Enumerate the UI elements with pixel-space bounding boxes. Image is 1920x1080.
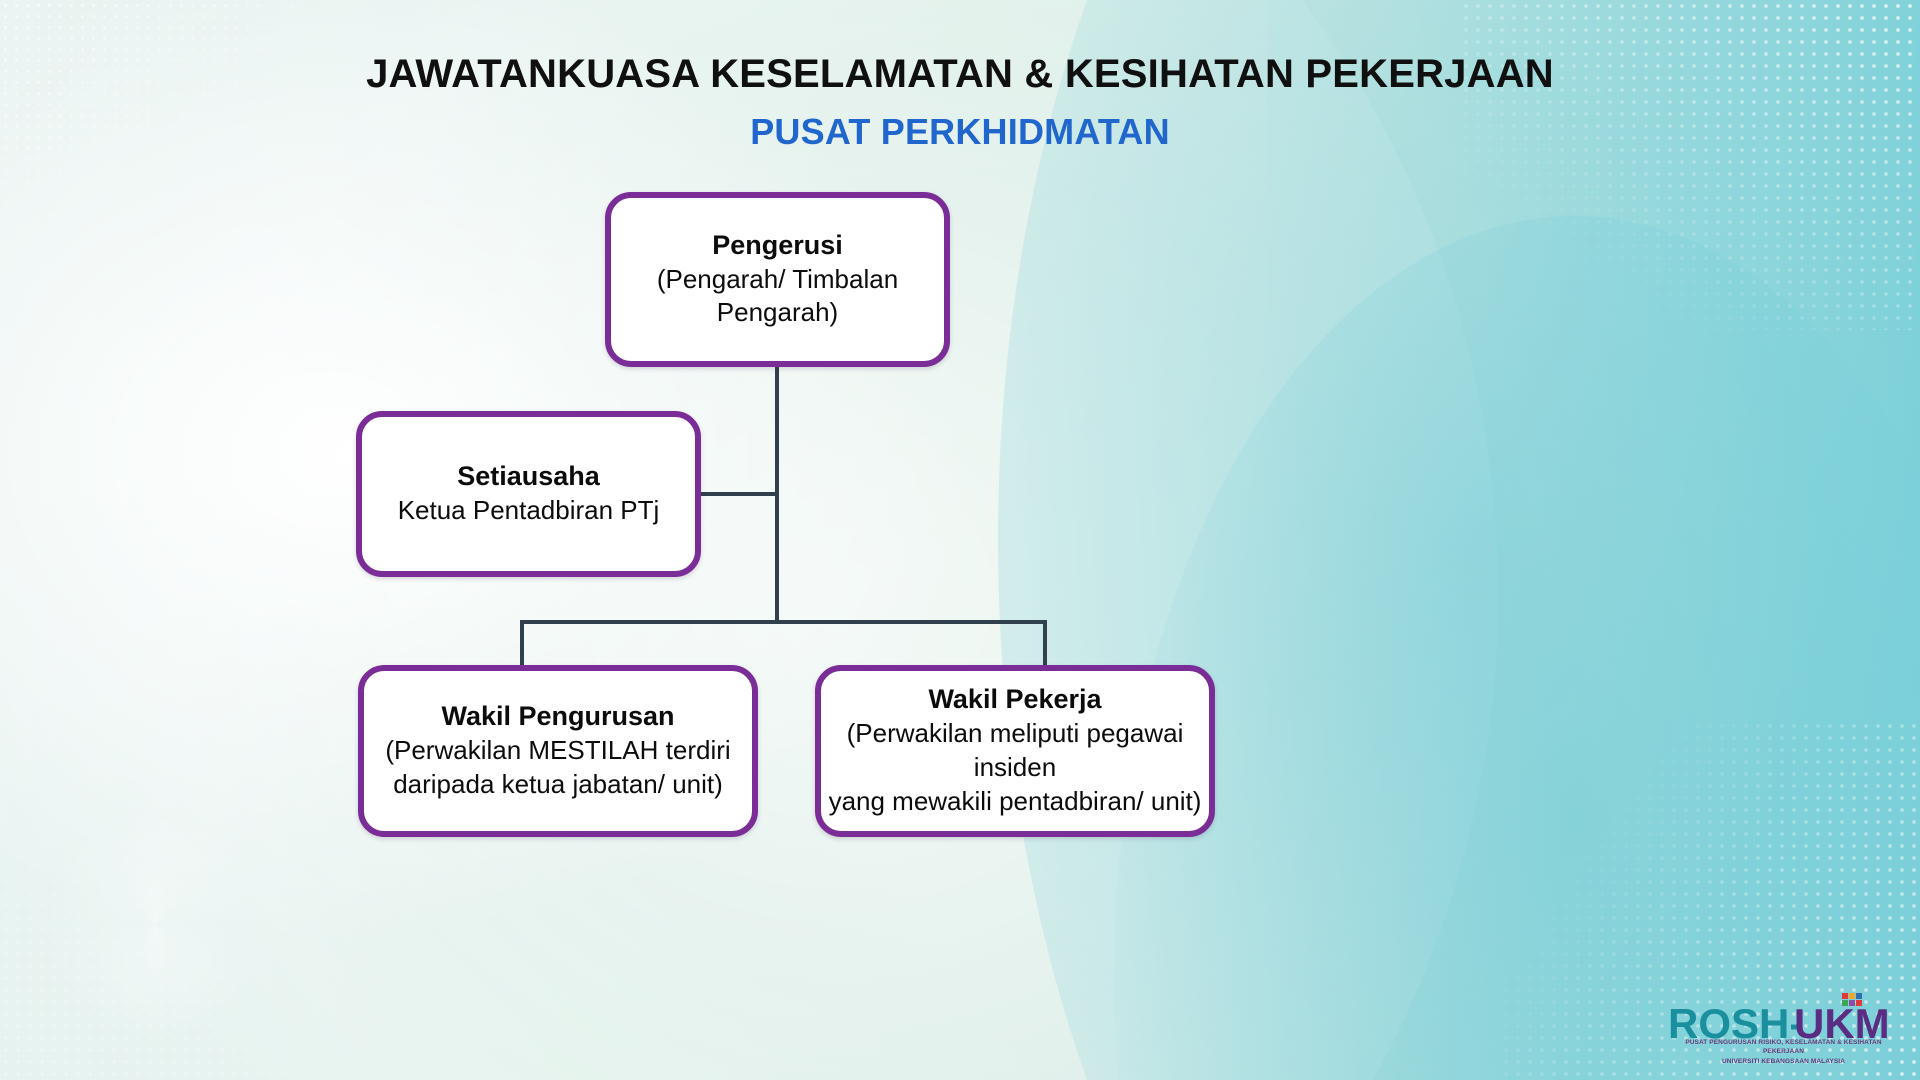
org-node-wakil-pengurusan[interactable]: Wakil Pengurusan (Perwakilan MESTILAH te… xyxy=(358,665,758,837)
org-node-wakil-pekerja-subtitle-line2: yang mewakili pentadbiran/ unit) xyxy=(829,785,1202,819)
org-node-wakil-pengurusan-subtitle-line2: daripada ketua jabatan/ unit) xyxy=(393,768,723,802)
logo-caption-line1: PUSAT PENGURUSAN RISIKO, KESELAMATAN & K… xyxy=(1671,1038,1896,1057)
org-node-wakil-pengurusan-subtitle-line1: (Perwakilan MESTILAH terdiri xyxy=(385,734,730,768)
logo-caption: PUSAT PENGURUSAN RISIKO, KESELAMATAN & K… xyxy=(1671,1038,1896,1066)
connector-wakil-pekerja-drop xyxy=(1043,620,1047,668)
org-node-wakil-pengurusan-heading: Wakil Pengurusan xyxy=(441,700,674,734)
logo-caption-line2: UNIVERSITI KEBANGSAAN MALAYSIA xyxy=(1671,1057,1896,1066)
org-node-setiausaha-heading: Setiausaha xyxy=(457,460,600,494)
org-node-pengerusi-heading: Pengerusi xyxy=(712,229,843,263)
org-node-wakil-pekerja-subtitle-line1: (Perwakilan meliputi pegawai insiden xyxy=(821,717,1209,785)
rosh-ukm-logo: ROSH- UKM PUSAT PENGURUSAN RISIKO, KESEL… xyxy=(1666,992,1906,1070)
org-node-pengerusi-subtitle: (Pengarah/ Timbalan Pengarah) xyxy=(611,263,944,331)
org-node-setiausaha[interactable]: Setiausaha Ketua Pentadbiran PTj xyxy=(356,411,701,577)
org-node-setiausaha-subtitle: Ketua Pentadbiran PTj xyxy=(398,494,660,528)
connector-wakil-pengurusan-drop xyxy=(520,620,524,668)
org-node-wakil-pekerja-heading: Wakil Pekerja xyxy=(928,683,1101,717)
org-chart: Pengerusi (Pengarah/ Timbalan Pengarah) … xyxy=(0,0,1920,1080)
connector-bottom-bus xyxy=(520,620,1047,624)
org-node-wakil-pekerja[interactable]: Wakil Pekerja (Perwakilan meliputi pegaw… xyxy=(815,665,1215,837)
connector-setiausaha-branch xyxy=(699,492,777,496)
org-node-pengerusi[interactable]: Pengerusi (Pengarah/ Timbalan Pengarah) xyxy=(605,192,950,367)
